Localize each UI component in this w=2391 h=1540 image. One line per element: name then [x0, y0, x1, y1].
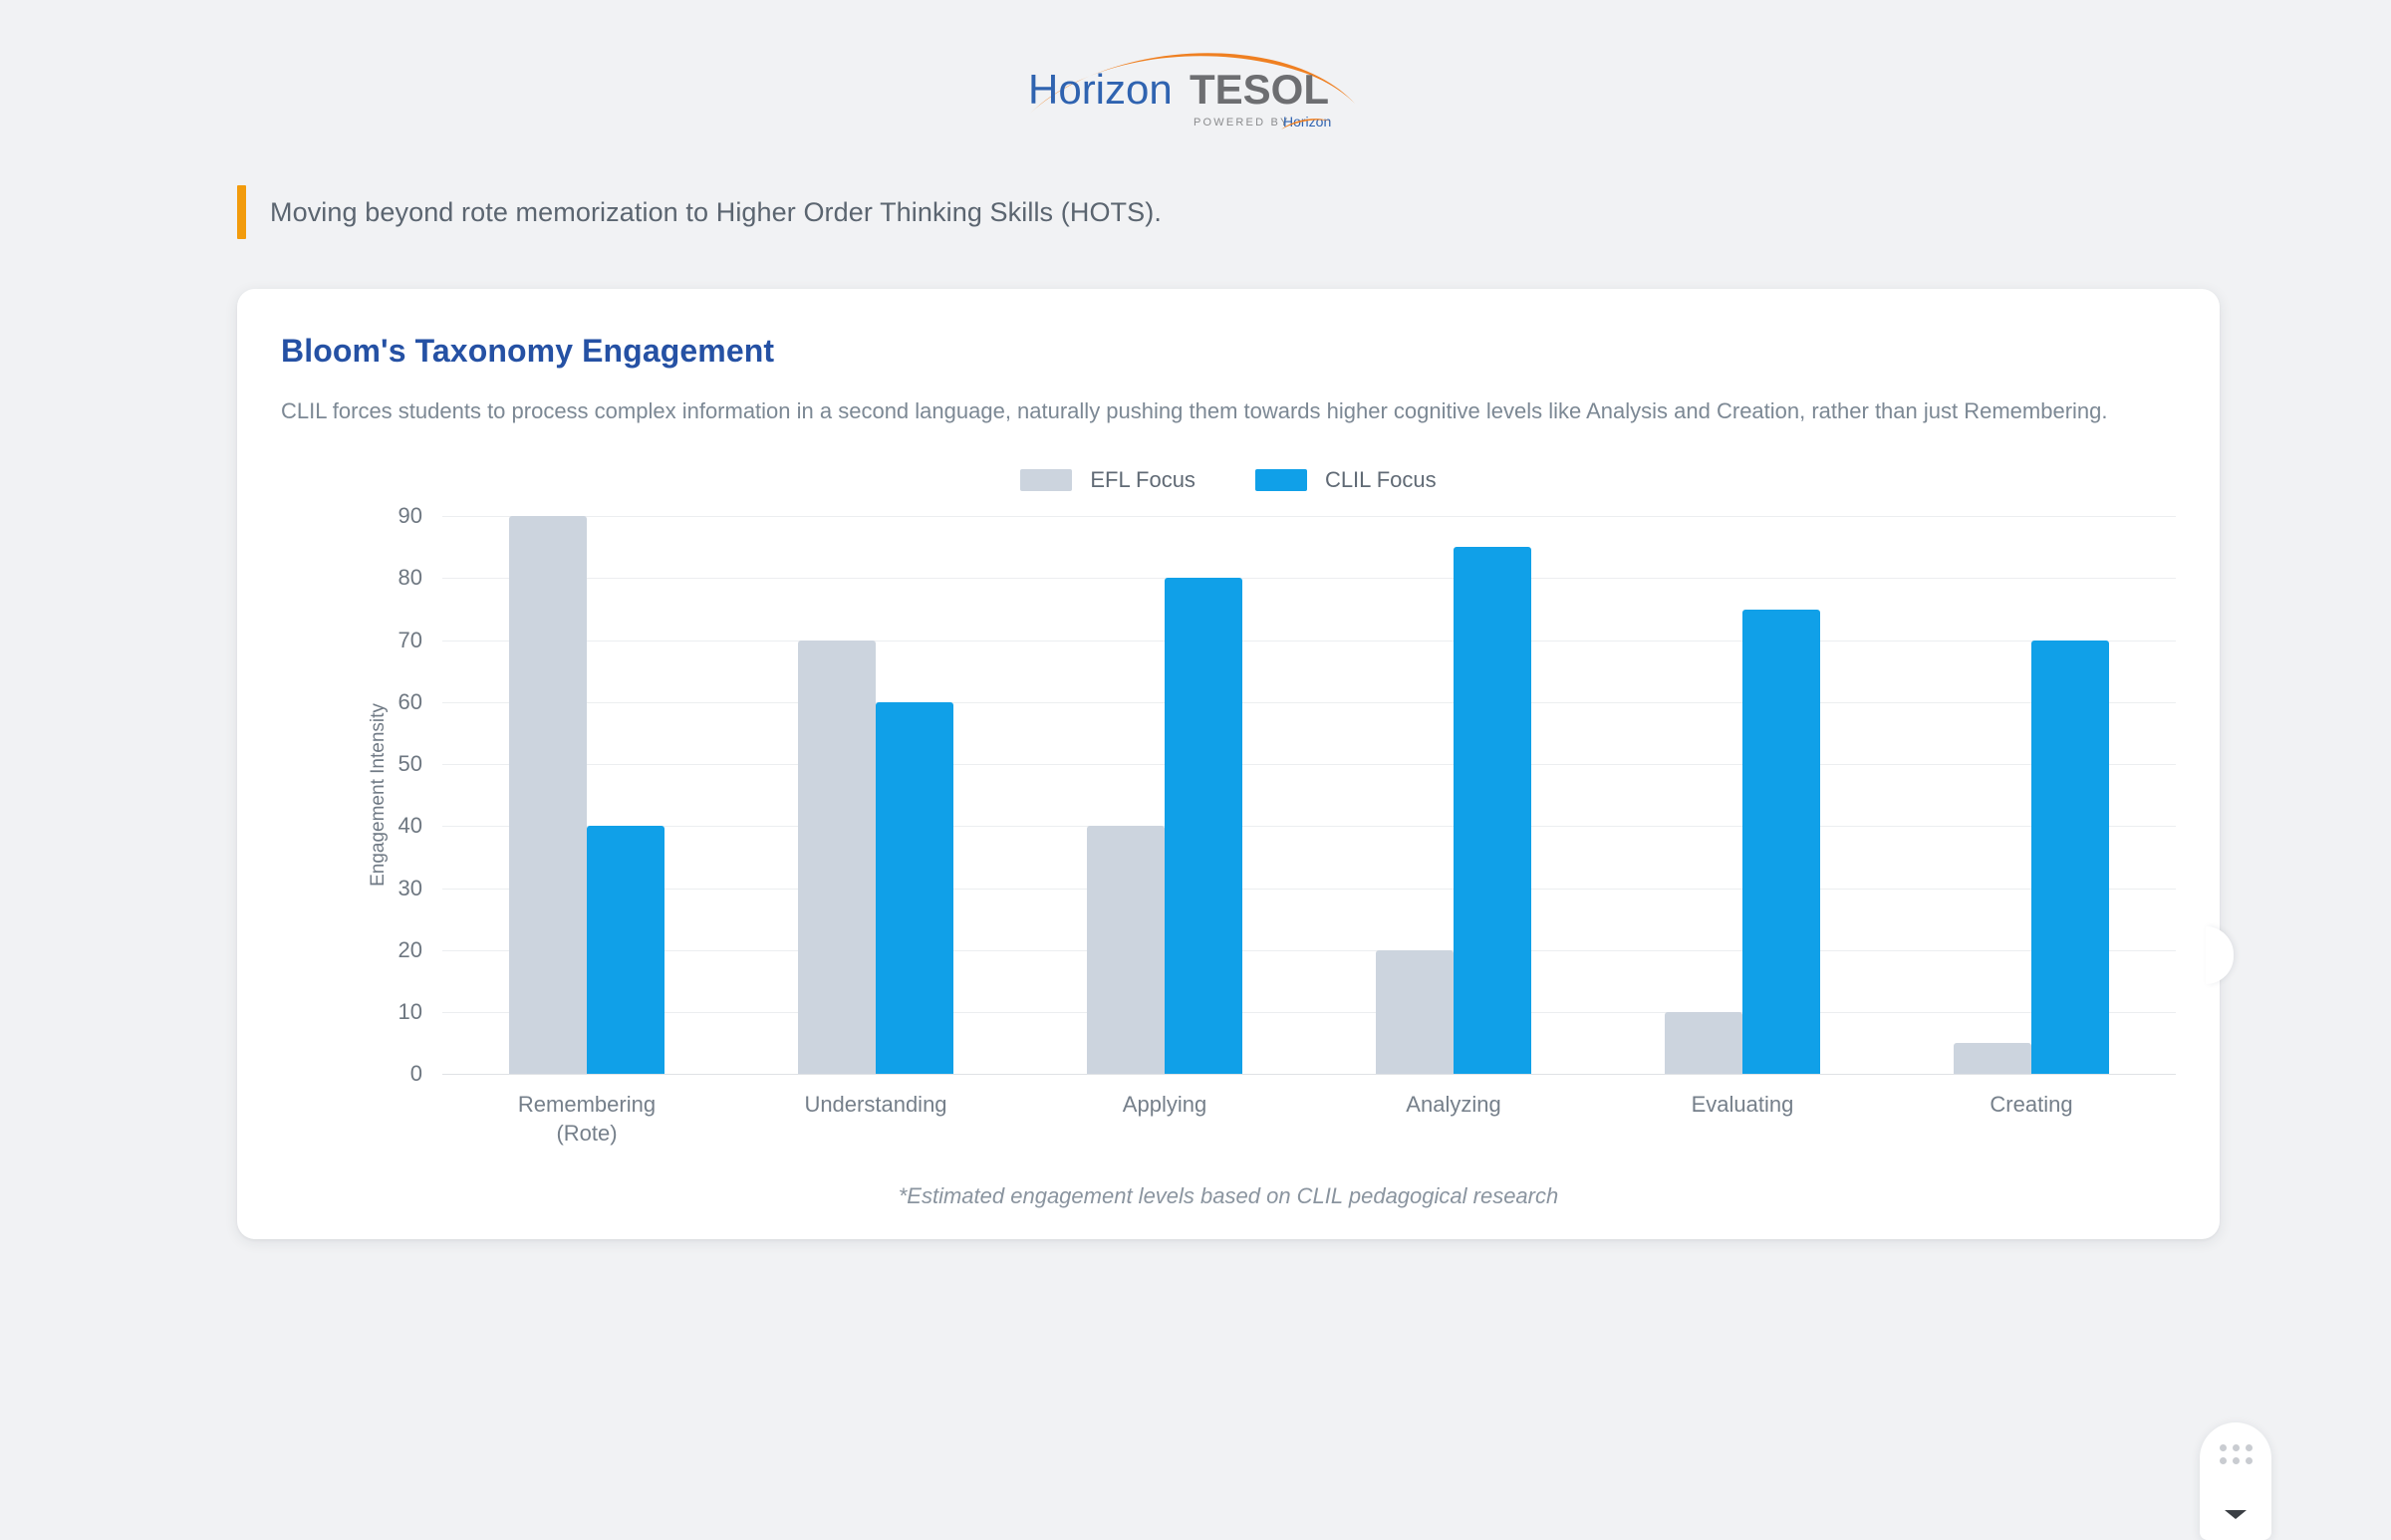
- y-tick-label: 80: [398, 565, 422, 591]
- bar[interactable]: [1087, 826, 1165, 1074]
- legend-swatch-icon: [1255, 469, 1307, 491]
- intro-text: Moving beyond rote memorization to Highe…: [270, 185, 1162, 239]
- gridline: [442, 1074, 2176, 1075]
- bar[interactable]: [509, 516, 587, 1074]
- bar-group: [1887, 516, 2176, 1074]
- card-side-tab[interactable]: [2206, 926, 2234, 984]
- y-tick-label: 40: [398, 813, 422, 839]
- bar[interactable]: [2031, 641, 2109, 1075]
- chevron-down-icon[interactable]: [2225, 1510, 2247, 1519]
- bar-group: [1309, 516, 1598, 1074]
- plot-area: Engagement Intensity 0102030405060708090: [281, 516, 2176, 1074]
- legend-item-efl-focus[interactable]: EFL Focus: [1020, 467, 1195, 493]
- bar[interactable]: [1165, 578, 1242, 1074]
- x-tick-label: Applying: [1020, 1090, 1309, 1148]
- horizon-tesol-logo: Horizon TESOL POWERED BY Horizon: [1026, 42, 1365, 141]
- bar[interactable]: [1454, 547, 1531, 1074]
- bar-group: [442, 516, 731, 1074]
- y-axis-ticks: 0102030405060708090: [377, 516, 432, 1074]
- page-title: Bloom's Taxonomy Engagement: [281, 333, 2176, 370]
- x-tick-label: Analyzing: [1309, 1090, 1598, 1148]
- bar-groups: [442, 516, 2176, 1074]
- card-description: CLIL forces students to process complex …: [281, 395, 2176, 426]
- chart-card: Bloom's Taxonomy Engagement CLIL forces …: [237, 289, 2220, 1239]
- svg-text:TESOL: TESOL: [1190, 66, 1329, 113]
- y-tick-label: 10: [398, 999, 422, 1025]
- chart-footnote: *Estimated engagement levels based on CL…: [281, 1183, 2176, 1209]
- legend-swatch-icon: [1020, 469, 1072, 491]
- bar[interactable]: [1665, 1012, 1742, 1074]
- bar[interactable]: [876, 702, 953, 1074]
- bar[interactable]: [587, 826, 664, 1074]
- y-tick-label: 90: [398, 503, 422, 529]
- svg-text:Horizon: Horizon: [1283, 114, 1331, 129]
- bar[interactable]: [798, 641, 876, 1075]
- site-header: Horizon TESOL POWERED BY Horizon: [0, 0, 2391, 141]
- intro-callout: Moving beyond rote memorization to Highe…: [0, 185, 2391, 239]
- floating-toolbar[interactable]: [2200, 1422, 2271, 1540]
- x-tick-label: Evaluating: [1598, 1090, 1887, 1148]
- y-tick-label: 30: [398, 876, 422, 901]
- drag-handle-icon[interactable]: [2220, 1444, 2253, 1464]
- y-tick-label: 20: [398, 937, 422, 963]
- legend-label: EFL Focus: [1090, 467, 1195, 493]
- chart-legend: EFL FocusCLIL Focus: [281, 462, 2176, 498]
- bar[interactable]: [1742, 610, 1820, 1075]
- y-tick-label: 50: [398, 751, 422, 777]
- svg-text:POWERED BY: POWERED BY: [1194, 117, 1290, 128]
- legend-item-clil-focus[interactable]: CLIL Focus: [1255, 467, 1437, 493]
- y-tick-label: 0: [410, 1061, 422, 1087]
- bar-group: [1020, 516, 1309, 1074]
- x-tick-label: Creating: [1887, 1090, 2176, 1148]
- accent-bar: [237, 185, 246, 239]
- bloom-taxonomy-chart: EFL FocusCLIL Focus Engagement Intensity…: [281, 462, 2176, 1148]
- legend-label: CLIL Focus: [1325, 467, 1437, 493]
- plot-canvas: [442, 516, 2176, 1074]
- y-tick-label: 60: [398, 689, 422, 715]
- bar-group: [731, 516, 1020, 1074]
- x-tick-label: Remembering(Rote): [442, 1090, 731, 1148]
- bar-group: [1598, 516, 1887, 1074]
- bar[interactable]: [1954, 1043, 2031, 1074]
- x-tick-label: Understanding: [731, 1090, 1020, 1148]
- bar[interactable]: [1376, 950, 1454, 1074]
- y-tick-label: 70: [398, 628, 422, 653]
- svg-text:Horizon: Horizon: [1028, 66, 1173, 113]
- x-axis-labels: Remembering(Rote)UnderstandingApplyingAn…: [442, 1090, 2176, 1148]
